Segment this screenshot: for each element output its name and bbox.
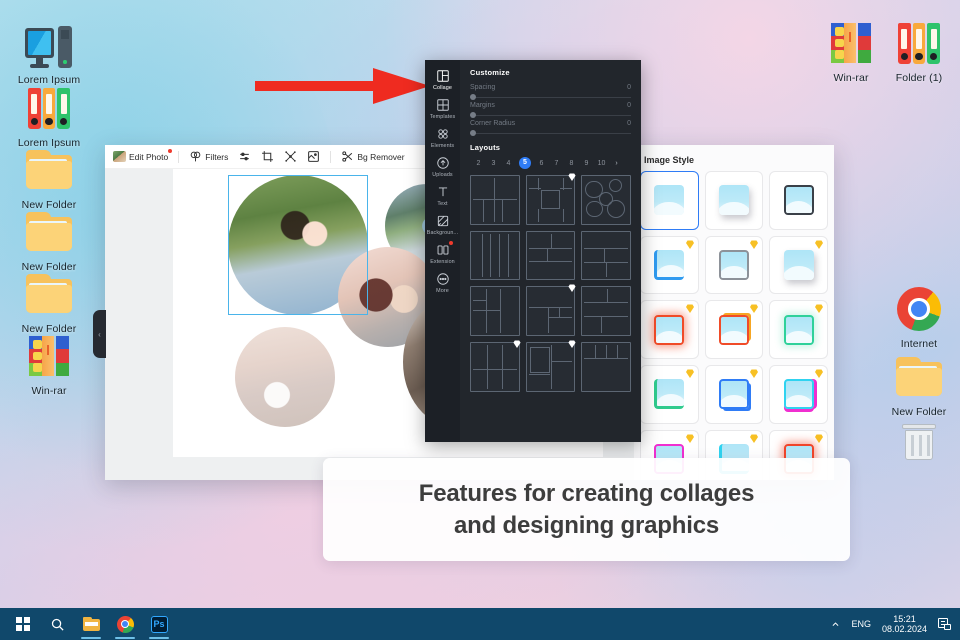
desktop-icon-computer[interactable]: Lorem Ipsum bbox=[6, 20, 92, 86]
text-icon bbox=[436, 185, 450, 199]
premium-gem-icon bbox=[815, 240, 823, 249]
caption-line-2: and designing graphics bbox=[454, 510, 719, 541]
slider-knob[interactable] bbox=[470, 130, 476, 136]
sidebar-item-label: Extension bbox=[430, 259, 455, 265]
sidebar-item-more[interactable]: More bbox=[425, 268, 460, 297]
image-style-blue-offset[interactable] bbox=[640, 236, 699, 295]
image-style-shadow[interactable] bbox=[705, 171, 764, 230]
collage-sidebar[interactable]: CollageTemplatesElementsUploadsTextBackg… bbox=[425, 60, 460, 442]
image-style-panel: Image Style bbox=[634, 145, 834, 480]
edit-photo-label: Edit Photo bbox=[129, 152, 168, 162]
desktop-icon-recycle-bin[interactable] bbox=[876, 418, 960, 468]
slider-label: Corner Radius bbox=[470, 120, 515, 127]
sidebar-item-backgroun[interactable]: Backgroun... bbox=[425, 210, 460, 239]
desktop-icon-internet[interactable]: Internet bbox=[876, 284, 960, 350]
notification-badge bbox=[449, 241, 453, 245]
sidebar-item-label: Collage bbox=[433, 85, 452, 91]
premium-gem-icon bbox=[686, 369, 694, 378]
image-style-gray-frame[interactable] bbox=[705, 236, 764, 295]
layout-thumbnail[interactable] bbox=[526, 286, 576, 336]
image-style-cyan-magenta[interactable] bbox=[769, 365, 828, 424]
layouts-title: Layouts bbox=[470, 143, 631, 152]
sidebar-item-label: Templates bbox=[430, 114, 455, 120]
layout-thumbnail[interactable] bbox=[470, 342, 520, 392]
slider-value: 0 bbox=[627, 84, 631, 91]
layouts-pager[interactable]: 2345678910› bbox=[470, 157, 631, 169]
style-preview-thumb bbox=[784, 315, 814, 345]
layout-thumbnail[interactable] bbox=[470, 286, 520, 336]
chrome-button[interactable] bbox=[110, 609, 140, 639]
collage-icon bbox=[436, 69, 450, 83]
image-style-orange-stack[interactable] bbox=[705, 300, 764, 359]
winrar-icon bbox=[24, 331, 74, 381]
slider-track[interactable] bbox=[470, 97, 631, 98]
premium-gem-icon bbox=[513, 340, 521, 348]
layout-thumbnail[interactable] bbox=[581, 342, 631, 392]
layout-page-9[interactable]: 9 bbox=[582, 160, 591, 167]
notification-badge bbox=[168, 149, 172, 153]
elements-icon bbox=[436, 127, 450, 141]
binders-icon bbox=[894, 18, 944, 68]
extension-icon bbox=[436, 243, 450, 257]
premium-gem-icon bbox=[750, 369, 758, 378]
background-icon bbox=[436, 214, 450, 228]
premium-gem-icon bbox=[568, 284, 576, 292]
sidebar-item-label: Text bbox=[437, 201, 447, 207]
slider-knob[interactable] bbox=[470, 94, 476, 100]
layout-thumbnail[interactable] bbox=[470, 231, 520, 281]
edit-photo-button[interactable]: Edit Photo bbox=[113, 151, 168, 162]
slider-value: 0 bbox=[627, 102, 631, 109]
image-style-green-offset[interactable] bbox=[640, 365, 699, 424]
chrome-icon bbox=[117, 616, 134, 633]
sidebar-item-label: Uploads bbox=[432, 172, 452, 178]
chevron-up-icon[interactable] bbox=[831, 620, 840, 629]
folder-icon bbox=[24, 269, 74, 319]
style-preview-thumb bbox=[654, 315, 684, 345]
layouts-grid[interactable] bbox=[470, 175, 631, 392]
bg-remover-label: Bg Remover bbox=[357, 152, 404, 162]
layout-thumbnail[interactable] bbox=[581, 286, 631, 336]
toolbar-divider bbox=[178, 151, 179, 163]
layout-page-5[interactable]: 5 bbox=[519, 157, 531, 169]
premium-gem-icon bbox=[568, 340, 576, 348]
desktop-icon-new-folder-right[interactable]: New Folder bbox=[876, 352, 960, 418]
filters-icon bbox=[189, 150, 202, 163]
sidebar-item-uploads[interactable]: Uploads bbox=[425, 152, 460, 181]
filters-button[interactable]: Filters bbox=[189, 150, 228, 163]
customize-title: Customize bbox=[470, 68, 631, 77]
layout-page-8[interactable]: 8 bbox=[567, 160, 576, 167]
layout-thumbnail[interactable] bbox=[526, 342, 576, 392]
search-icon bbox=[50, 617, 65, 632]
style-preview-thumb bbox=[784, 250, 814, 280]
layout-page-7[interactable]: 7 bbox=[552, 160, 561, 167]
sidebar-item-label: More bbox=[436, 288, 449, 294]
premium-gem-icon bbox=[686, 434, 694, 443]
slider-track[interactable] bbox=[470, 133, 631, 134]
winrar-icon bbox=[826, 18, 876, 68]
effects-icon[interactable] bbox=[284, 150, 297, 163]
sidebar-item-elements[interactable]: Elements bbox=[425, 123, 460, 152]
folder-icon bbox=[24, 207, 74, 257]
premium-gem-icon bbox=[686, 240, 694, 249]
desktop-icon-label: Internet bbox=[901, 338, 937, 350]
desktop-icon-folder-1[interactable]: Folder (1) bbox=[876, 18, 960, 84]
filters-label: Filters bbox=[205, 152, 228, 162]
customize-sliders[interactable]: Spacing0Margins0Corner Radius0 bbox=[470, 84, 631, 134]
slider-track[interactable] bbox=[470, 115, 631, 116]
desktop-icon-binders-1[interactable]: Lorem Ipsum bbox=[6, 83, 92, 149]
desktop-icon-new-folder-3[interactable]: New Folder bbox=[6, 269, 92, 335]
layout-page-10[interactable]: 10 bbox=[597, 160, 606, 167]
desktop-icon-new-folder-1[interactable]: New Folder bbox=[6, 145, 92, 211]
sidebar-item-label: Elements bbox=[431, 143, 454, 149]
layout-thumbnail[interactable] bbox=[526, 231, 576, 281]
active-indicator bbox=[81, 637, 101, 639]
taskbar-apps: Ps bbox=[0, 609, 174, 639]
frame-icon[interactable] bbox=[307, 150, 320, 163]
premium-gem-icon bbox=[568, 173, 576, 181]
premium-gem-icon bbox=[750, 434, 758, 443]
layout-page-4[interactable]: 4 bbox=[504, 160, 513, 167]
binders-icon bbox=[24, 83, 74, 133]
folder-icon bbox=[24, 145, 74, 195]
layout-page-6[interactable]: 6 bbox=[537, 160, 546, 167]
layout-thumbnail[interactable] bbox=[470, 175, 520, 225]
more-icon bbox=[436, 272, 450, 286]
folder-icon bbox=[894, 352, 944, 402]
chrome-icon bbox=[894, 284, 944, 334]
style-preview-thumb bbox=[654, 185, 684, 215]
desktop-icon-label: Win-rar bbox=[31, 385, 66, 397]
toolbar-divider bbox=[330, 151, 331, 163]
language-indicator[interactable]: ENG bbox=[851, 619, 871, 629]
premium-gem-icon bbox=[815, 369, 823, 378]
image-style-grid[interactable] bbox=[640, 171, 828, 480]
clock[interactable]: 15:21 08.02.2024 bbox=[882, 614, 927, 635]
style-preview-thumb bbox=[654, 250, 684, 280]
clock-date: 08.02.2024 bbox=[882, 624, 927, 634]
red-arrow-annotation bbox=[255, 68, 430, 104]
recycle-bin-icon bbox=[894, 418, 944, 468]
sidebar-item-label: Backgroun... bbox=[427, 230, 458, 236]
uploads-icon bbox=[436, 156, 450, 170]
clock-time: 15:21 bbox=[882, 614, 927, 624]
slider-spacing[interactable]: Spacing0 bbox=[470, 84, 631, 98]
desktop-icon-label: Win-rar bbox=[833, 72, 868, 84]
slider-knob[interactable] bbox=[470, 112, 476, 118]
caption-line-1: Features for creating collages bbox=[419, 478, 754, 509]
desktop-icon-label: New Folder bbox=[892, 406, 947, 418]
style-preview-thumb bbox=[784, 379, 814, 409]
style-preview-thumb bbox=[719, 185, 749, 215]
search-button[interactable] bbox=[42, 609, 72, 639]
style-preview-thumb bbox=[719, 379, 749, 409]
photoshop-button[interactable]: Ps bbox=[144, 609, 174, 639]
desktop-icon-new-folder-2[interactable]: New Folder bbox=[6, 207, 92, 273]
taskbar-tray: ENG 15:21 08.02.2024 bbox=[831, 614, 960, 635]
premium-gem-icon bbox=[686, 304, 694, 313]
templates-icon bbox=[436, 98, 450, 112]
file-explorer-button[interactable] bbox=[76, 609, 106, 639]
collage-panel: CollageTemplatesElementsUploadsTextBackg… bbox=[425, 60, 641, 442]
image-style-red-glow[interactable] bbox=[640, 300, 699, 359]
sidebar-item-templates[interactable]: Templates bbox=[425, 94, 460, 123]
style-preview-thumb bbox=[719, 250, 749, 280]
premium-gem-icon bbox=[815, 304, 823, 313]
image-style-white-shadow[interactable] bbox=[769, 236, 828, 295]
adjust-icon[interactable] bbox=[238, 150, 251, 163]
slider-corner-radius[interactable]: Corner Radius0 bbox=[470, 120, 631, 134]
crop-icon[interactable] bbox=[261, 150, 274, 163]
bg-remover-button[interactable]: Bg Remover bbox=[341, 150, 404, 163]
start-button[interactable] bbox=[8, 609, 38, 639]
collage-photo-girls-street[interactable] bbox=[235, 327, 335, 427]
photo-thumbnail-icon bbox=[113, 151, 126, 162]
folder-icon bbox=[83, 617, 100, 631]
style-preview-thumb bbox=[654, 379, 684, 409]
photo-selection-box[interactable] bbox=[228, 175, 368, 315]
slider-value: 0 bbox=[627, 120, 631, 127]
desktop-icon-winrar-left[interactable]: Win-rar bbox=[6, 331, 92, 397]
slider-label: Spacing bbox=[470, 84, 495, 91]
layout-thumbnail[interactable] bbox=[581, 231, 631, 281]
premium-gem-icon bbox=[815, 434, 823, 443]
layout-page-3[interactable]: 3 bbox=[489, 160, 498, 167]
caption-banner: Features for creating collages and desig… bbox=[323, 458, 850, 561]
image-style-blue-stack[interactable] bbox=[705, 365, 764, 424]
ps-icon: Ps bbox=[151, 616, 168, 633]
collage-panel-body: Customize Spacing0Margins0Corner Radius0… bbox=[460, 60, 641, 442]
active-indicator bbox=[149, 637, 169, 639]
sidebar-item-extension[interactable]: Extension bbox=[425, 239, 460, 268]
panel-collapse-handle[interactable]: ‹ bbox=[93, 310, 106, 358]
style-preview-thumb bbox=[719, 315, 749, 345]
image-style-title: Image Style bbox=[644, 155, 828, 165]
layout-thumbnail[interactable] bbox=[581, 175, 631, 225]
premium-gem-icon bbox=[750, 240, 758, 249]
style-preview-thumb bbox=[784, 185, 814, 215]
slider-margins[interactable]: Margins0 bbox=[470, 102, 631, 116]
layout-pager-next[interactable]: › bbox=[612, 160, 621, 167]
image-style-green-frame[interactable] bbox=[769, 300, 828, 359]
image-style-plain[interactable] bbox=[640, 171, 699, 230]
computer-icon bbox=[24, 20, 74, 70]
layout-thumbnail[interactable] bbox=[526, 175, 576, 225]
sidebar-item-text[interactable]: Text bbox=[425, 181, 460, 210]
sidebar-item-collage[interactable]: Collage bbox=[425, 65, 460, 94]
active-indicator bbox=[115, 637, 135, 639]
slider-label: Margins bbox=[470, 102, 495, 109]
layout-page-2[interactable]: 2 bbox=[474, 160, 483, 167]
windows-logo-icon bbox=[16, 617, 30, 631]
notifications-icon[interactable] bbox=[938, 618, 951, 630]
desktop: Lorem Ipsum Lorem Ipsum New Folder New F… bbox=[0, 0, 960, 640]
premium-gem-icon bbox=[750, 304, 758, 313]
desktop-icon-label: Folder (1) bbox=[896, 72, 943, 84]
taskbar: Ps ENG 15:21 08.02.2024 bbox=[0, 608, 960, 640]
image-style-dark-frame[interactable] bbox=[769, 171, 828, 230]
scissors-icon bbox=[341, 150, 354, 163]
